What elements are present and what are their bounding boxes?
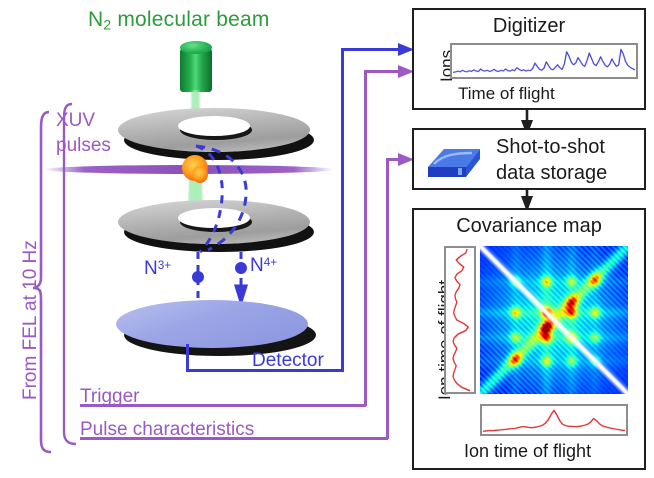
detector-signal-line-h1 [186,369,344,372]
covariance-side-canvas [446,248,474,392]
gas-nozzle-top-icon [180,41,212,54]
storage-panel: Shot-to-shot data storage [412,128,646,190]
ion-label-n4plus-charge: 4+ [264,256,277,269]
detector-signal-line-v2 [341,48,344,372]
covariance-title: Covariance map [414,216,644,236]
pulse-line-v1 [386,158,389,439]
gas-nozzle-icon [180,48,212,92]
pulse-line-h2 [386,158,408,161]
detector-signal-line-v1 [186,344,189,372]
ion-label-n4plus: N4+ [250,255,277,277]
trigger-line-h2 [364,70,408,73]
ion-label-n3plus: N3+ [144,258,171,280]
digitizer-panel: Digitizer Ions Time of flight [412,8,646,110]
storage-label-line1: Shot-to-shot [496,136,605,159]
covariance-heatmap-canvas [480,246,628,394]
storage-label-line2: data storage [496,162,607,185]
hard-drive-icon [422,137,486,185]
ion-label-n3plus-charge: 3+ [158,259,171,272]
diagram-root: N2 molecular beam From FEL at 10 Hz XUV … [0,0,654,478]
trigger-line-h1 [80,404,366,407]
molecular-beam-title-n: N [88,8,103,31]
molecular-beam-title: N2 molecular beam [88,8,270,32]
xuv-label-line2: pulses [56,135,111,157]
digitizer-xlabel: Time of flight [458,85,555,102]
source-label: From FEL at 10 Hz [20,110,42,400]
covariance-panel: Covariance map Ion time of flight Ion ti… [412,208,646,470]
covariance-side-trace-box [444,246,476,394]
molecular-beam-title-rest: molecular beam [111,8,269,31]
digitizer-trace-box [450,43,638,79]
covariance-bottom-canvas [482,406,626,434]
digitizer-title: Digitizer [414,16,644,36]
covariance-xlabel: Ion time of flight [464,442,591,460]
pulse-line-h1 [80,437,388,440]
digitizer-trace-canvas [452,45,636,77]
trigger-line-v1 [364,70,367,406]
xuv-label-line1: XUV [56,110,95,132]
ionization-hotspot-b [192,166,208,183]
ion-label-n3plus-n: N [144,258,158,279]
covariance-heatmap [480,246,628,394]
covariance-bottom-trace-box [480,404,628,436]
repeller-plate [118,108,314,160]
detector-signal-line-h2 [341,48,407,51]
ion-label-n4plus-n: N [250,255,264,276]
extractor-plate [118,200,314,252]
